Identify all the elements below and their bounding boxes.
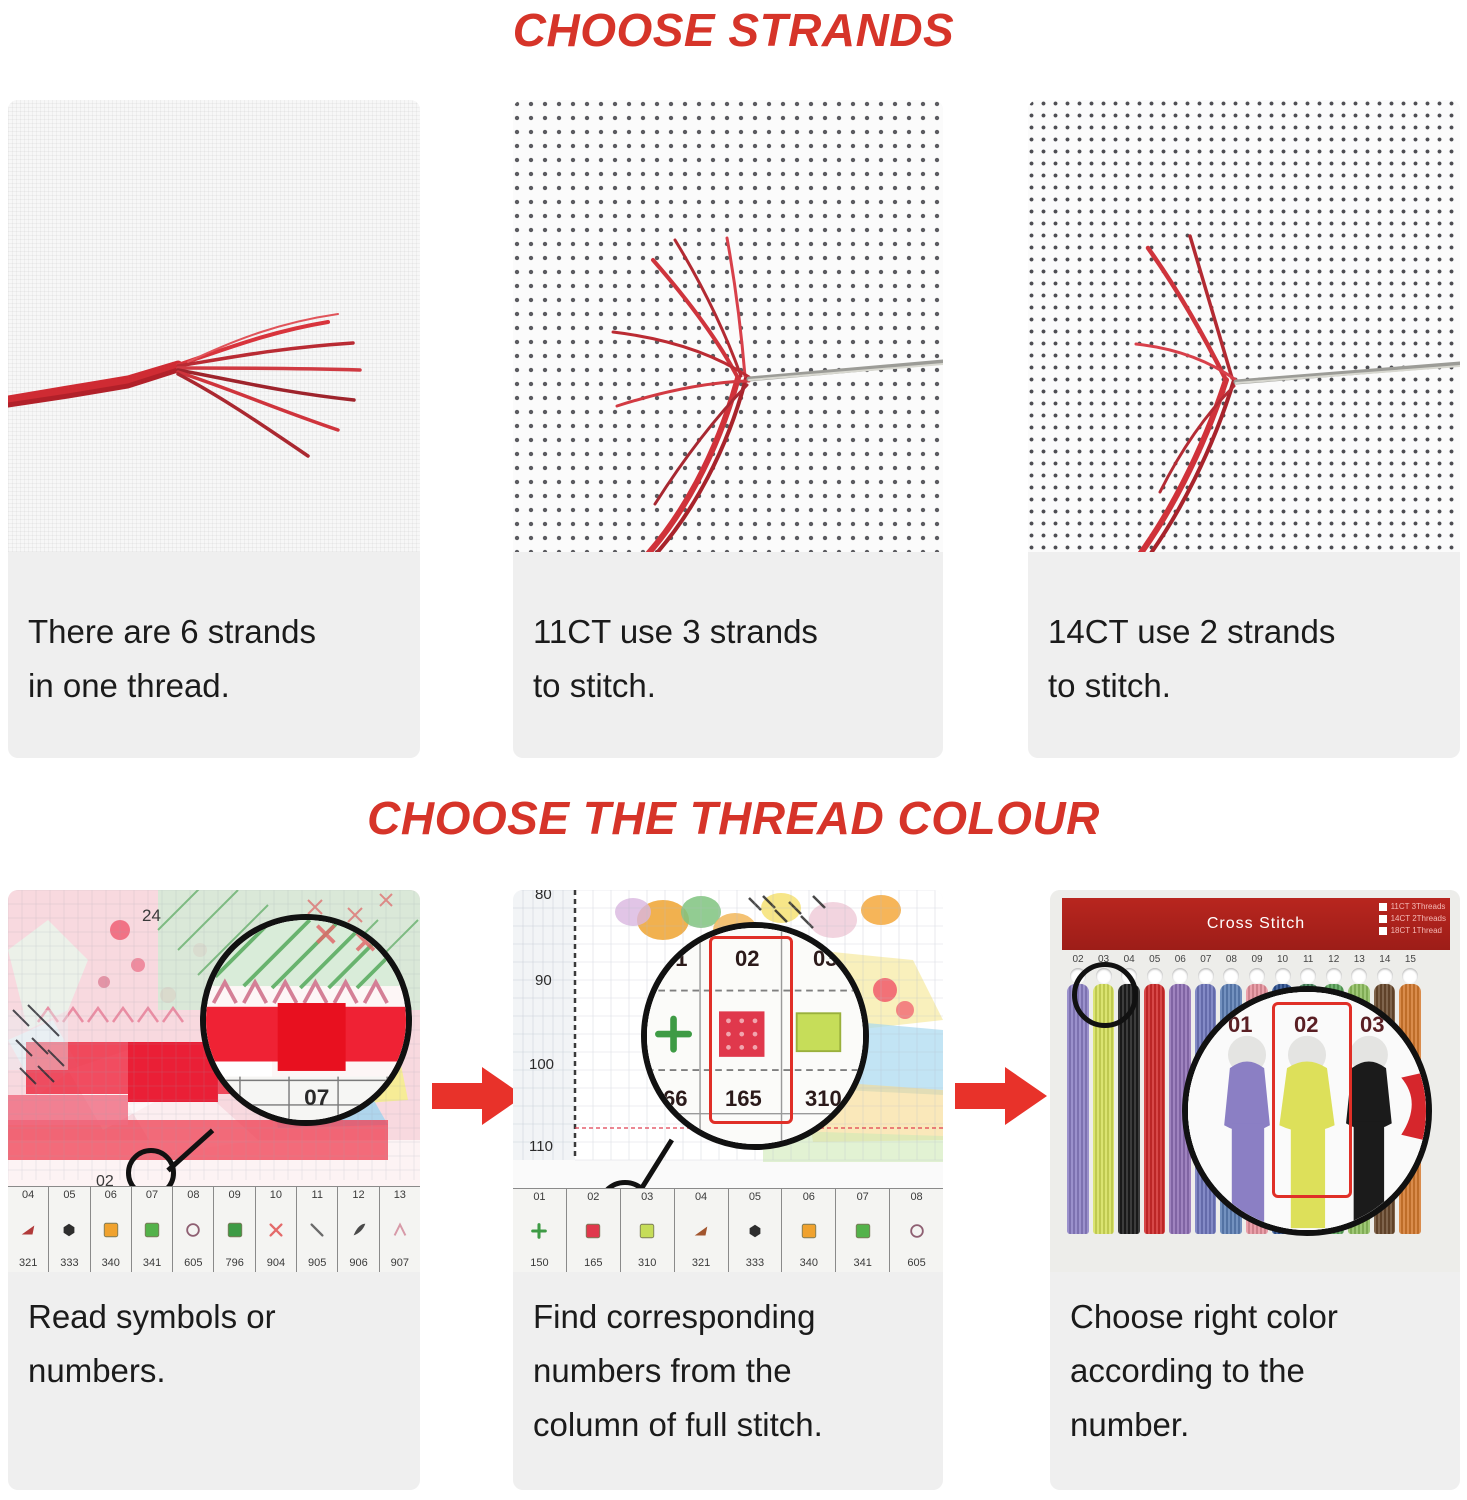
pattern-legend-left: 0432105333063400734108605097961090411905… bbox=[8, 1186, 420, 1272]
legend-left-symbol-open-circle bbox=[183, 1220, 203, 1240]
page-title-choose-thread-colour: CHOOSE THE THREAD COLOUR bbox=[0, 790, 1467, 846]
caption-line: Choose right color bbox=[1070, 1290, 1440, 1344]
legend-left-code: 340 bbox=[102, 1257, 120, 1270]
photo-11ct bbox=[513, 100, 943, 552]
legend-left-cell: 08605 bbox=[173, 1187, 214, 1272]
option-label: 14CT 2Threads bbox=[1391, 914, 1446, 923]
mag-thread-number-03: 03 bbox=[1360, 1012, 1384, 1038]
skein-hole bbox=[1198, 968, 1214, 984]
legend-left-number: 09 bbox=[229, 1189, 241, 1202]
legend-left-cell: 05333 bbox=[49, 1187, 90, 1272]
mag-code-66: 66 bbox=[663, 1086, 687, 1112]
legend-left-symbol-triangle-flag bbox=[18, 1220, 38, 1240]
photo-14ct bbox=[1028, 100, 1460, 552]
option-label: 18CT 1Thread bbox=[1391, 926, 1442, 935]
legend-left-number: 07 bbox=[146, 1189, 158, 1202]
legend-left-number: 13 bbox=[394, 1189, 406, 1202]
legend-middle-number: 04 bbox=[695, 1191, 707, 1204]
legend-middle-symbol-orange-square bbox=[799, 1221, 819, 1241]
caption-read-symbols: Read symbols or numbers. bbox=[8, 1290, 420, 1398]
legend-left-cell: 09796 bbox=[214, 1187, 255, 1272]
caption-line: numbers from the bbox=[533, 1344, 923, 1398]
skein-number: 07 bbox=[1194, 954, 1218, 965]
legend-middle-number: 01 bbox=[533, 1191, 545, 1204]
legend-left-cell: 07341 bbox=[132, 1187, 173, 1272]
legend-middle-cell: 04321 bbox=[675, 1189, 729, 1272]
checkbox-icon bbox=[1379, 903, 1387, 911]
caption-line: column of full stitch. bbox=[533, 1398, 923, 1452]
legend-left-cell: 06340 bbox=[91, 1187, 132, 1272]
skein-number: 04 bbox=[1117, 954, 1141, 965]
legend-left-symbol-backslash bbox=[307, 1220, 327, 1240]
checkbox-icon bbox=[1379, 915, 1387, 923]
panel-11ct: 11CT use 3 strands to stitch. bbox=[513, 100, 943, 758]
skein-number: 13 bbox=[1347, 954, 1371, 965]
legend-middle-code: 605 bbox=[907, 1257, 925, 1270]
panel-14ct: 14CT use 2 strands to stitch. bbox=[1028, 100, 1460, 758]
14ct-needle-and-threads-illustration bbox=[1028, 100, 1460, 552]
mag-code-310: 310 bbox=[805, 1086, 842, 1112]
thread-card-option: 11CT 3Threads bbox=[1379, 902, 1446, 911]
skein-hole bbox=[1275, 968, 1291, 984]
magnifier-circle-numbers: 01 02 03 66 165 310 bbox=[641, 922, 869, 1150]
skein-hole bbox=[1147, 968, 1163, 984]
skein-number: 02 bbox=[1066, 954, 1090, 965]
panel-six-strands: There are 6 strands in one thread. bbox=[8, 100, 420, 758]
legend-left-code: 333 bbox=[60, 1257, 78, 1270]
skein-hole bbox=[1377, 968, 1393, 984]
legend-left-code: 321 bbox=[19, 1257, 37, 1270]
caption-choose-color: Choose right color according to the numb… bbox=[1050, 1290, 1460, 1452]
skein-number: 15 bbox=[1398, 954, 1422, 965]
caption-11ct: 11CT use 3 strands to stitch. bbox=[513, 605, 943, 713]
caption-line: number. bbox=[1070, 1398, 1440, 1452]
skein-hole bbox=[1300, 968, 1316, 984]
highlight-box-column-02 bbox=[709, 936, 793, 1124]
legend-left-symbol-black-hex bbox=[59, 1220, 79, 1240]
legend-middle-symbol-brown-triangle bbox=[691, 1221, 711, 1241]
legend-left-code: 906 bbox=[349, 1257, 367, 1270]
legend-middle-number: 05 bbox=[749, 1191, 761, 1204]
y-axis-label-100: 100 bbox=[529, 1056, 554, 1073]
legend-middle-code: 340 bbox=[800, 1257, 818, 1270]
checkbox-icon bbox=[1379, 927, 1387, 935]
caption-line: 11CT use 3 strands bbox=[533, 605, 923, 659]
legend-left-symbol-orange-square bbox=[101, 1220, 121, 1240]
legend-left-code: 905 bbox=[308, 1257, 326, 1270]
caption-line: Read symbols or bbox=[28, 1290, 400, 1344]
caption-six-strands: There are 6 strands in one thread. bbox=[8, 605, 420, 713]
legend-left-code: 796 bbox=[225, 1257, 243, 1270]
legend-left-cell: 12906 bbox=[338, 1187, 379, 1272]
legend-middle-cell: 02165 bbox=[567, 1189, 621, 1272]
skein-number: 10 bbox=[1271, 954, 1295, 965]
arrow-step-2-to-3-icon bbox=[955, 1065, 1047, 1127]
legend-middle-code: 341 bbox=[854, 1257, 872, 1270]
mag-column-number-03: 03 bbox=[813, 946, 837, 972]
skein-hole bbox=[1223, 968, 1239, 984]
legend-middle-symbol-red-filled-square bbox=[583, 1221, 603, 1241]
caption-find-numbers: Find corresponding numbers from the colu… bbox=[513, 1290, 943, 1452]
panel-read-symbols: 24 02 bbox=[8, 890, 420, 1490]
photo-six-strands bbox=[8, 100, 420, 552]
legend-left-number: 05 bbox=[63, 1189, 75, 1202]
six-strands-thread-illustration bbox=[8, 100, 420, 552]
instruction-infographic: CHOOSE STRANDS There are 6 strands bbox=[0, 0, 1467, 1500]
legend-left-symbol-green-filled-square bbox=[225, 1220, 245, 1240]
legend-middle-symbol-green-plus bbox=[529, 1221, 549, 1241]
thread-card-options: 11CT 3Threads 14CT 2Threads 18CT 1Thread bbox=[1379, 902, 1446, 938]
legend-middle-code: 333 bbox=[746, 1257, 764, 1270]
legend-middle-cell: 05333 bbox=[729, 1189, 783, 1272]
caption-line: to stitch. bbox=[533, 659, 923, 713]
legend-middle-symbol-black-hex bbox=[745, 1221, 765, 1241]
11ct-needle-and-threads-illustration bbox=[513, 100, 943, 552]
legend-middle-cell: 03310 bbox=[621, 1189, 675, 1272]
legend-middle-number: 08 bbox=[910, 1191, 922, 1204]
photo-thread-card: Cross Stitch 11CT 3Threads 14CT 2Threads… bbox=[1050, 890, 1460, 1272]
pattern-legend-middle: 0115002165033100432105333063400734108605 bbox=[513, 1188, 943, 1272]
legend-middle-cell: 06340 bbox=[782, 1189, 836, 1272]
page-title-choose-strands: CHOOSE STRANDS bbox=[0, 2, 1467, 58]
arrow-step-1-to-2-icon bbox=[432, 1065, 524, 1127]
photo-pattern-chart-left: 24 02 bbox=[8, 890, 420, 1272]
option-label: 11CT 3Threads bbox=[1391, 902, 1446, 911]
legend-left-number: 06 bbox=[105, 1189, 117, 1202]
panel-choose-color: Cross Stitch 11CT 3Threads 14CT 2Threads… bbox=[1050, 890, 1460, 1490]
highlight-box-thread-02 bbox=[1272, 1002, 1352, 1198]
caption-line: numbers. bbox=[28, 1344, 400, 1398]
chart-grid-marker-24: 24 bbox=[142, 906, 161, 926]
thread-card-option: 18CT 1Thread bbox=[1379, 926, 1446, 935]
mag-column-number-01: 01 bbox=[663, 946, 687, 972]
legend-left-symbol-dark-leaf bbox=[349, 1220, 369, 1240]
skein-number: 06 bbox=[1168, 954, 1192, 965]
legend-middle-code: 321 bbox=[692, 1257, 710, 1270]
mag-thread-number-01: 01 bbox=[1228, 1012, 1252, 1038]
legend-middle-code: 165 bbox=[584, 1257, 602, 1270]
legend-left-cell: 04321 bbox=[8, 1187, 49, 1272]
caption-line: to stitch. bbox=[1048, 659, 1440, 713]
legend-middle-cell: 07341 bbox=[836, 1189, 890, 1272]
legend-left-cell: 10904 bbox=[256, 1187, 297, 1272]
legend-middle-number: 03 bbox=[641, 1191, 653, 1204]
skein-hole bbox=[1172, 968, 1188, 984]
legend-left-cell: 13907 bbox=[380, 1187, 420, 1272]
svg-text:07: 07 bbox=[304, 1085, 329, 1110]
legend-middle-number: 07 bbox=[857, 1191, 869, 1204]
caption-line: in one thread. bbox=[28, 659, 400, 713]
legend-middle-number: 02 bbox=[587, 1191, 599, 1204]
legend-left-cell: 11905 bbox=[297, 1187, 338, 1272]
skein-number: 14 bbox=[1373, 954, 1397, 965]
legend-middle-cell: 08605 bbox=[890, 1189, 943, 1272]
legend-left-symbol-green-square bbox=[142, 1220, 162, 1240]
legend-middle-code: 310 bbox=[638, 1257, 656, 1270]
legend-left-code: 605 bbox=[184, 1257, 202, 1270]
skein-hole bbox=[1351, 968, 1367, 984]
skein-hole bbox=[1249, 968, 1265, 984]
y-axis-label-110: 110 bbox=[529, 1138, 553, 1155]
caption-line: There are 6 strands bbox=[28, 605, 400, 659]
caption-line: 14CT use 2 strands bbox=[1048, 605, 1440, 659]
y-axis-label-80: 80 bbox=[535, 890, 552, 903]
legend-left-code: 904 bbox=[267, 1257, 285, 1270]
legend-left-number: 11 bbox=[312, 1189, 323, 1202]
skein-number: 11 bbox=[1296, 954, 1320, 965]
skein-number: 12 bbox=[1322, 954, 1346, 965]
caption-line: Find corresponding bbox=[533, 1290, 923, 1344]
caption-14ct: 14CT use 2 strands to stitch. bbox=[1028, 605, 1460, 713]
legend-left-code: 907 bbox=[391, 1257, 409, 1270]
panel-find-numbers: 80 90 100 110 bbox=[513, 890, 943, 1490]
legend-left-number: 04 bbox=[22, 1189, 34, 1202]
legend-middle-cell: 01150 bbox=[513, 1189, 567, 1272]
legend-left-number: 10 bbox=[270, 1189, 282, 1202]
legend-middle-number: 06 bbox=[803, 1191, 815, 1204]
magnifier-target-circle-right bbox=[1072, 962, 1138, 1028]
magnifier-circle-threads: 01 02 03 bbox=[1182, 986, 1432, 1236]
thread-card-title: Cross Stitch bbox=[1207, 915, 1305, 933]
legend-middle-symbol-open-circle bbox=[907, 1221, 927, 1241]
magnified-pattern-artwork: 07 bbox=[206, 920, 406, 1120]
skein-number: 05 bbox=[1143, 954, 1167, 965]
legend-left-number: 08 bbox=[187, 1189, 199, 1202]
skein-hole bbox=[1402, 968, 1418, 984]
legend-left-number: 12 bbox=[352, 1189, 364, 1202]
skein-number: 08 bbox=[1219, 954, 1243, 965]
magnifier-circle-pattern: 07 bbox=[200, 914, 412, 1126]
legend-left-code: 341 bbox=[143, 1257, 161, 1270]
legend-left-symbol-pink-caret bbox=[390, 1220, 410, 1240]
photo-pattern-chart-middle: 80 90 100 110 bbox=[513, 890, 943, 1272]
skein-hole bbox=[1326, 968, 1342, 984]
legend-middle-symbol-green-square bbox=[853, 1221, 873, 1241]
thread-card-option: 14CT 2Threads bbox=[1379, 914, 1446, 923]
legend-middle-code: 150 bbox=[530, 1257, 548, 1270]
y-axis-label-90: 90 bbox=[535, 972, 552, 989]
thread-skein bbox=[1144, 984, 1166, 1234]
skein-number: 09 bbox=[1245, 954, 1269, 965]
legend-middle-symbol-yellow-green-square bbox=[637, 1221, 657, 1241]
caption-line: according to the bbox=[1070, 1344, 1440, 1398]
legend-left-symbol-red-x bbox=[266, 1220, 286, 1240]
